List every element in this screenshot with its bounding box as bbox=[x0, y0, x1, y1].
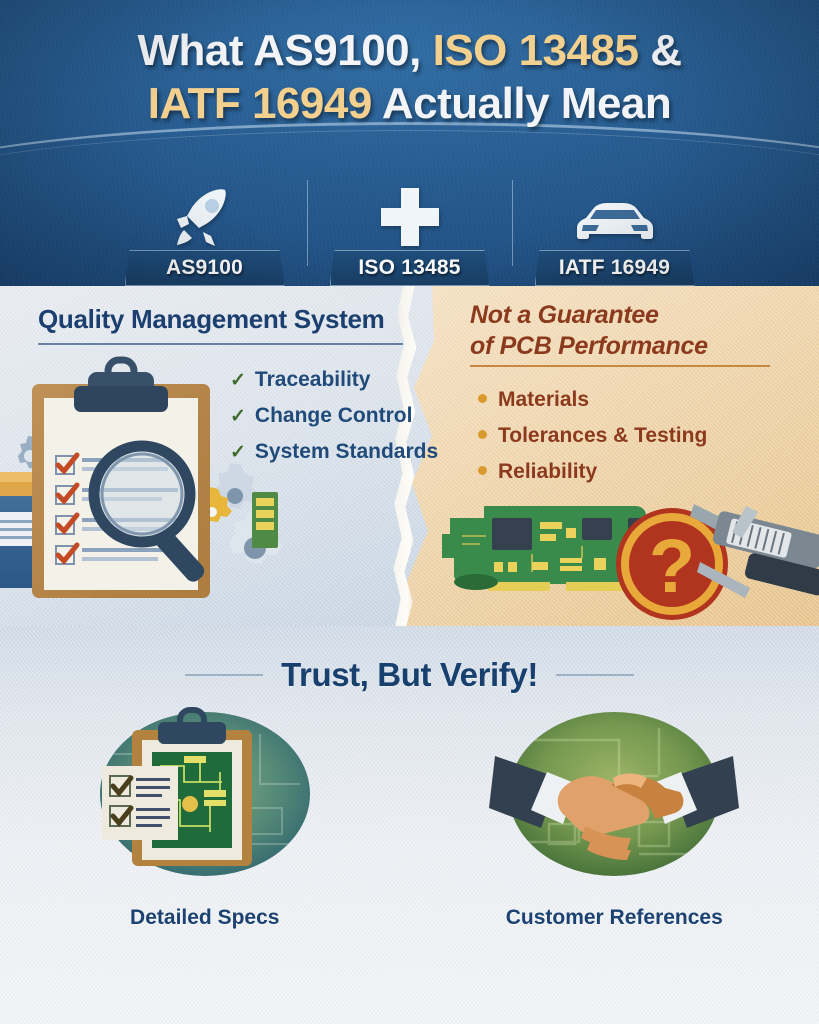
right-panel-title-line-1: Not a Guarantee bbox=[470, 300, 790, 331]
trust-verify-section: Trust, But Verify! bbox=[0, 626, 819, 1024]
card-customer-references[interactable]: Customer References bbox=[410, 704, 819, 964]
rocket-icon bbox=[170, 186, 240, 248]
car-icon bbox=[569, 186, 661, 248]
rule-left bbox=[185, 674, 263, 676]
badge-iatf-16949[interactable]: IATF 16949 bbox=[512, 176, 717, 286]
list-item-label: Traceability bbox=[255, 362, 371, 397]
right-panel-rule bbox=[470, 365, 770, 367]
bullet-icon bbox=[478, 394, 487, 403]
card-label: Detailed Specs bbox=[130, 906, 279, 930]
medical-cross-icon bbox=[379, 186, 441, 248]
badge-plaque-as9100: AS9100 bbox=[125, 250, 285, 286]
trust-verify-heading: Trust, But Verify! bbox=[281, 656, 538, 694]
header-banner: What AS9100, ISO 13485 & IATF 16949 Actu… bbox=[0, 0, 819, 286]
list-item: ✓ Change Control bbox=[230, 398, 470, 434]
badge-label: IATF 16949 bbox=[559, 256, 670, 280]
left-panel-list: ✓ Traceability ✓ Change Control ✓ System… bbox=[230, 362, 470, 470]
infographic-poster: What AS9100, ISO 13485 & IATF 16949 Actu… bbox=[0, 0, 819, 1024]
check-icon: ✓ bbox=[230, 435, 246, 470]
title-part-what: What AS9100, bbox=[138, 26, 433, 75]
trust-card-row: Detailed Specs bbox=[0, 704, 819, 964]
right-panel-list: Materials Tolerances & Testing Reliabili… bbox=[478, 382, 808, 490]
card-detailed-specs[interactable]: Detailed Specs bbox=[0, 704, 410, 964]
badge-as9100[interactable]: AS9100 bbox=[102, 176, 307, 286]
comparison-section: ? Quality Management System bbox=[0, 286, 819, 626]
right-panel-title: Not a Guarantee of PCB Performance bbox=[470, 300, 790, 362]
left-panel-title: Quality Management System bbox=[38, 304, 403, 335]
list-item: ✓ System Standards bbox=[230, 434, 470, 470]
rule-right bbox=[556, 674, 634, 676]
list-item-label: Change Control bbox=[255, 398, 413, 433]
pcb-uncertainty-illustration: ? bbox=[432, 466, 819, 626]
badge-label: ISO 13485 bbox=[358, 256, 460, 280]
title-line-2: IATF 16949 Actually Mean bbox=[26, 77, 793, 130]
badge-iso-13485[interactable]: ISO 13485 bbox=[307, 176, 512, 286]
list-item: Materials bbox=[478, 382, 808, 418]
right-panel-title-line-2: of PCB Performance bbox=[470, 331, 790, 362]
list-item-label: Materials bbox=[498, 382, 589, 418]
badge-label: AS9100 bbox=[166, 256, 243, 280]
title-part-iatf: IATF 16949 bbox=[148, 79, 372, 128]
list-item-label: System Standards bbox=[255, 434, 438, 469]
card-label: Customer References bbox=[506, 906, 723, 930]
list-item: ✓ Traceability bbox=[230, 362, 470, 398]
badge-plaque-iso-13485: ISO 13485 bbox=[330, 250, 490, 286]
title-part-amp: & bbox=[638, 26, 681, 75]
check-icon: ✓ bbox=[230, 363, 246, 398]
left-panel-rule bbox=[38, 343, 403, 345]
title-part-actually-mean: Actually Mean bbox=[372, 79, 671, 128]
standards-badge-row: AS9100 ISO 13485 bbox=[0, 176, 819, 286]
list-item-label: Tolerances & Testing bbox=[498, 418, 707, 454]
bullet-icon bbox=[478, 430, 487, 439]
check-icon: ✓ bbox=[230, 399, 246, 434]
list-item: Tolerances & Testing bbox=[478, 418, 808, 454]
page-title: What AS9100, ISO 13485 & IATF 16949 Actu… bbox=[0, 24, 819, 130]
question-mark-glyph: ? bbox=[649, 524, 695, 609]
bullet-icon bbox=[478, 466, 487, 475]
list-item-label: Reliability bbox=[498, 454, 597, 490]
title-line-1: What AS9100, ISO 13485 & bbox=[26, 24, 793, 77]
title-part-iso: ISO 13485 bbox=[433, 26, 639, 75]
clipboard-schematic-icon bbox=[80, 704, 330, 884]
trust-verify-heading-row: Trust, But Verify! bbox=[0, 656, 819, 694]
handshake-icon bbox=[489, 704, 739, 884]
badge-plaque-iatf-16949: IATF 16949 bbox=[535, 250, 695, 286]
list-item: Reliability bbox=[478, 454, 808, 490]
